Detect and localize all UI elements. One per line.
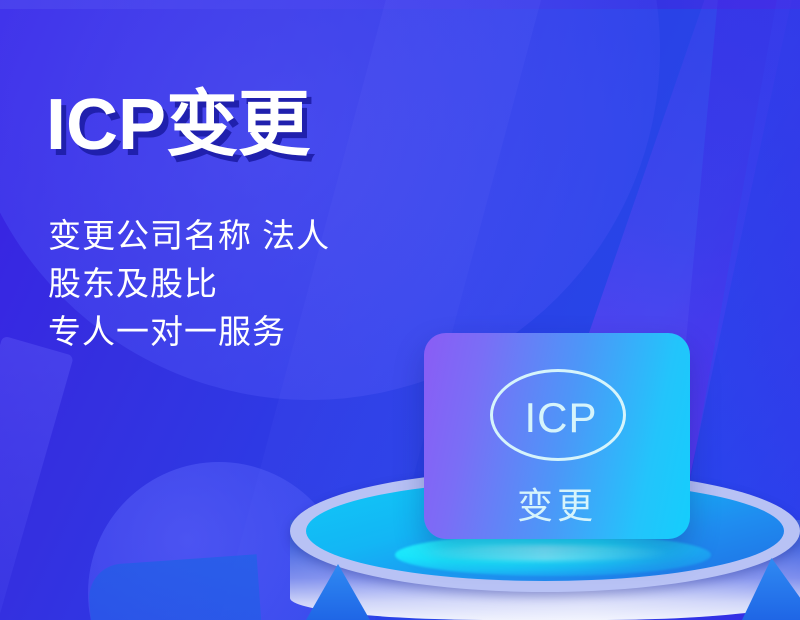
icp-badge-label: ICP: [493, 372, 629, 464]
podium-highlight-streak: [420, 545, 670, 561]
icp-card: ICP 变更: [424, 333, 690, 539]
background-bottom-left-wedge: [87, 554, 267, 620]
top-edge-strip: [0, 0, 800, 9]
subtitle-line-2: 股东及股比: [48, 260, 330, 308]
subtitle-line-1: 变更公司名称 法人: [48, 212, 330, 260]
icp-card-caption: 变更: [424, 477, 690, 529]
subtitle-line-3: 专人一对一服务: [48, 308, 330, 356]
icp-promo-banner: ICP 变更 ICP变更 变更公司名称 法人 股东及股比 专人一对一服务: [0, 0, 800, 620]
subtitle-block: 变更公司名称 法人 股东及股比 专人一对一服务: [48, 212, 330, 356]
background-slanted-bar: [0, 336, 74, 620]
page-title: ICP变更: [46, 88, 310, 164]
icp-oval-icon: ICP: [490, 369, 626, 461]
